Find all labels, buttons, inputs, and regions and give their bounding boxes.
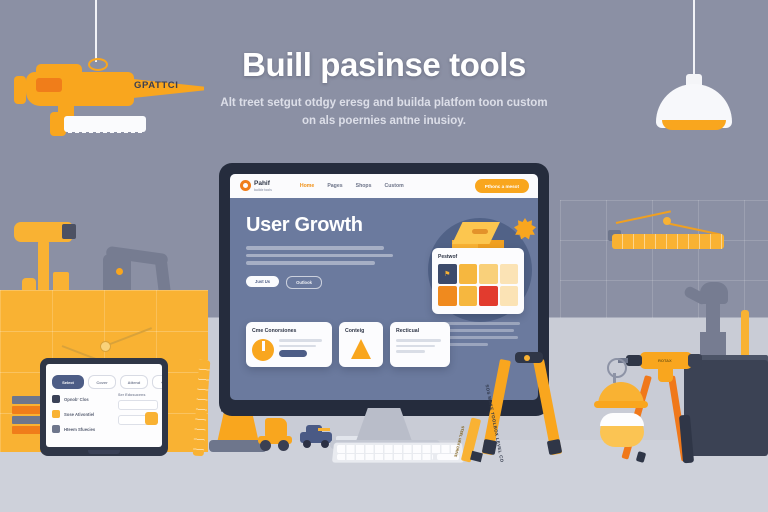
toy-crane-wheel <box>260 440 271 451</box>
tablet-submit-button[interactable] <box>145 412 158 425</box>
orange-rod-icon <box>741 310 749 358</box>
tablet-tab-select[interactable]: Select <box>52 375 84 389</box>
logo-icon <box>240 180 251 191</box>
card-title: Cme Conorsiones <box>252 328 326 334</box>
card-title: Pestwof <box>438 254 518 260</box>
list-item[interactable]: Hteem Sfuecies <box>52 425 112 433</box>
text-line <box>396 345 435 348</box>
box-icon <box>52 425 60 433</box>
tablet-tab-cover[interactable]: Cover <box>88 375 116 389</box>
feature-cards-row: Cme Conorsiones Conteig Recticual <box>246 322 450 367</box>
grid-tile <box>500 264 519 284</box>
headline-block: Buill pasinse tools Alt treet setgut otd… <box>0 46 768 131</box>
hero-title: User Growth <box>246 214 396 237</box>
card-text <box>279 339 326 357</box>
grid-tile <box>479 264 498 284</box>
tablet-tab-label: Attend <box>128 380 141 385</box>
hero-primary-label: Just Us <box>255 279 270 284</box>
tablet-tab-label: Select <box>62 380 74 385</box>
toy-car-stripe <box>318 428 330 431</box>
tablet-tab-label: + <box>161 380 162 385</box>
monitor-screen[interactable]: Pahif builde tools Home Pages Shops Cust… <box>230 174 538 400</box>
field-input[interactable] <box>118 400 158 410</box>
card-title: Conteig <box>345 328 377 334</box>
list-item-label: Opnob' Clos <box>64 397 89 402</box>
desk-cabinet <box>684 360 768 456</box>
drill-chuck <box>626 355 642 366</box>
toy-crane-wheel <box>278 440 289 451</box>
drill-battery <box>688 354 702 367</box>
tablet-tab-add[interactable]: + <box>152 375 162 389</box>
level-bar-ticks <box>612 234 724 249</box>
hero-block: User Growth Just Us Outlook <box>246 214 396 289</box>
hero-primary-button[interactable]: Just Us <box>246 276 279 287</box>
card-action-button[interactable] <box>279 350 307 357</box>
grid-tile <box>459 264 478 284</box>
feature-card-conteig[interactable]: Conteig <box>339 322 383 367</box>
text-line <box>246 261 375 265</box>
ladder-foot <box>547 439 562 455</box>
ladder-pivot <box>524 355 530 361</box>
text-line <box>279 345 316 348</box>
field-label: Ser Edosucens <box>118 393 158 397</box>
site-cta-button[interactable]: Pthonc a mesot <box>475 179 529 193</box>
site-cta-label: Pthonc a mesot <box>485 184 519 189</box>
text-line <box>396 350 425 353</box>
tablet-tab-label: Cover <box>96 380 107 385</box>
nav-item-shops[interactable]: Shops <box>356 183 372 189</box>
text-line <box>246 246 384 250</box>
grid-tile <box>459 286 478 306</box>
scene-root: GPATTCI Buill pasinse tools Alt treet se… <box>0 0 768 512</box>
list-item-label: Sose Ativontiel <box>64 412 94 417</box>
level-ring <box>663 217 671 225</box>
toy-car-wheel <box>321 440 329 448</box>
hammer-claw <box>62 224 76 239</box>
folder-icon <box>52 410 60 418</box>
keyboard-row <box>337 445 459 453</box>
cone-icon <box>351 339 371 359</box>
text-line <box>279 339 322 342</box>
pie-chart-icon <box>252 339 274 361</box>
nav-item-custom[interactable]: Custom <box>384 183 403 189</box>
page-title: Buill pasinse tools <box>0 46 768 84</box>
grid-tile <box>438 286 457 306</box>
tablet-stand <box>88 450 120 454</box>
box-slot <box>472 229 488 234</box>
tablet-tab-bar[interactable]: Select Cover Attend + <box>52 375 162 389</box>
tablet-screen[interactable]: Select Cover Attend + Opnob' Clos Sose A… <box>46 364 162 447</box>
hard-hat-brim <box>594 401 648 408</box>
list-item[interactable]: Sose Ativontiel <box>52 410 112 418</box>
excavator-pivot <box>116 268 123 275</box>
hero-buttons[interactable]: Just Us Outlook <box>246 276 396 289</box>
list-item-label: Hteem Sfuecies <box>64 427 95 432</box>
toy-crane-icon <box>265 418 287 438</box>
robot-column <box>706 296 720 336</box>
logo-tagline: builde tools <box>254 188 272 192</box>
hero-secondary-button[interactable]: Outlook <box>286 276 322 289</box>
page-subtitle: Alt treet setgut otdgy eresg and builda … <box>219 95 549 131</box>
card-body <box>252 339 326 361</box>
card-title: Recticual <box>396 328 444 334</box>
hard-hat-highlight <box>600 413 644 426</box>
hero-body-text <box>246 246 396 265</box>
text-line <box>246 254 393 258</box>
toy-car-wheel <box>303 440 311 448</box>
site-nav[interactable]: Home Pages Shops Custom <box>300 183 404 189</box>
tablet-hanger-knob <box>100 341 111 352</box>
site-header: Pahif builde tools Home Pages Shops Cust… <box>230 174 538 198</box>
keyboard-row <box>337 454 433 460</box>
site-logo[interactable]: Pahif builde tools <box>240 180 272 191</box>
document-icon <box>52 395 60 403</box>
grid-tile <box>500 286 519 306</box>
list-item[interactable]: Opnob' Clos <box>52 395 112 403</box>
tablet-list: Opnob' Clos Sose Ativontiel Hteem Sfueci… <box>52 395 112 440</box>
drill-label: ROTAX <box>658 358 672 363</box>
feature-card-recticual[interactable]: Recticual <box>390 322 450 367</box>
tablet-tab-attend[interactable]: Attend <box>120 375 148 389</box>
feature-grid-card[interactable]: Pestwof ⚑ <box>432 248 524 314</box>
feature-card-conversions[interactable]: Cme Conorsiones <box>246 322 332 367</box>
grid-tile: ⚑ <box>438 264 457 284</box>
logo-text: Pahif <box>254 180 272 187</box>
ring-icon <box>607 358 627 378</box>
nav-item-home[interactable]: Home <box>300 183 314 189</box>
text-line <box>396 339 441 342</box>
nav-item-pages[interactable]: Pages <box>327 183 342 189</box>
hero-secondary-label: Outlook <box>296 280 312 285</box>
tile-grid: ⚑ <box>438 264 518 306</box>
grid-tile <box>479 286 498 306</box>
